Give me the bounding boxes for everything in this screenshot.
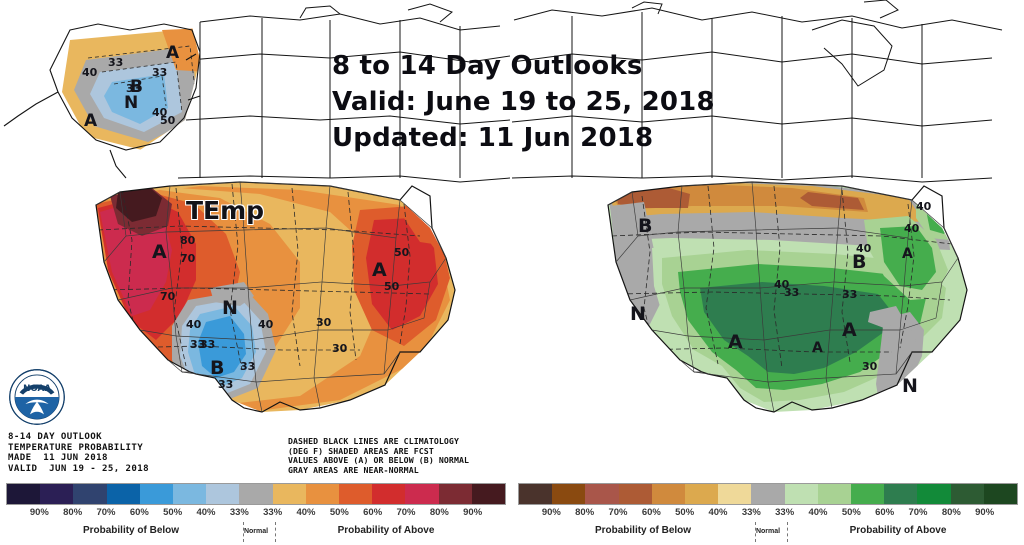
svg-text:70: 70 (180, 252, 196, 265)
colorbar-tick: 80% (63, 507, 82, 518)
svg-text:B: B (852, 251, 866, 273)
colorbar-tick: 90% (975, 507, 994, 518)
svg-text:B: B (210, 357, 224, 379)
legend-below-label: Probability of Below (595, 525, 691, 536)
colorbar-swatch (818, 484, 851, 504)
svg-text:40: 40 (186, 318, 202, 331)
svg-text:50: 50 (394, 246, 410, 259)
colorbar-swatch (173, 484, 206, 504)
svg-text:30: 30 (862, 360, 878, 373)
colorbar-tick: 40% (296, 507, 315, 518)
svg-text:A: A (166, 43, 180, 63)
colorbar-tick: 33% (742, 507, 761, 518)
colorbar-swatch (273, 484, 306, 504)
legend-divider-left (243, 522, 244, 542)
colorbar-tick: 50% (330, 507, 349, 518)
colorbar-tick: 33% (775, 507, 794, 518)
colorbar-tick: 40% (808, 507, 827, 518)
svg-text:70: 70 (160, 290, 176, 303)
legend-divider-left (755, 522, 756, 542)
colorbar-swatch (472, 484, 505, 504)
svg-text:33: 33 (218, 378, 233, 391)
colorbar-swatch (206, 484, 239, 504)
svg-text:30: 30 (316, 316, 332, 329)
colorbar-tick: 70% (96, 507, 115, 518)
conus-temperature-shading (80, 175, 480, 425)
colorbar-swatch (619, 484, 652, 504)
legend-divider-right (275, 522, 276, 542)
colorbar-swatch (751, 484, 784, 504)
headline-line-1: 8 to 14 Day Outlooks (332, 48, 732, 84)
svg-text:50: 50 (384, 280, 400, 293)
colorbar-swatch (785, 484, 818, 504)
svg-text:A: A (84, 111, 98, 131)
svg-text:40: 40 (904, 222, 920, 235)
colorbar-tick: 70% (908, 507, 927, 518)
precipitation-colorbar (518, 483, 1018, 505)
colorbar-swatch (917, 484, 950, 504)
colorbar-tick: 40% (196, 507, 215, 518)
svg-text:N: N (902, 375, 918, 397)
colorbar-tick: 70% (608, 507, 627, 518)
temperature-map-title: TEmp (186, 196, 264, 225)
colorbar-swatch (239, 484, 272, 504)
legend-above-label: Probability of Above (850, 525, 947, 536)
legend-normal-label: Normal (244, 528, 268, 535)
colorbar-tick: 60% (130, 507, 149, 518)
svg-text:33: 33 (842, 288, 857, 301)
colorbar-swatch (951, 484, 984, 504)
precipitation-colorbar-ticks: 90%80%70%60%50%40%33%33%40%50%60%70%80%9… (518, 507, 1018, 523)
conus-precip-shading (592, 175, 992, 425)
colorbar-swatch (140, 484, 173, 504)
svg-text:40: 40 (774, 278, 790, 291)
svg-text:33: 33 (200, 338, 215, 351)
colorbar-swatch (372, 484, 405, 504)
colorbar-tick: 90% (463, 507, 482, 518)
legend-below-label: Probability of Below (83, 525, 179, 536)
svg-text:A: A (372, 259, 387, 281)
colorbar-tick: 80% (430, 507, 449, 518)
svg-text:50: 50 (160, 114, 176, 127)
svg-text:40: 40 (258, 318, 274, 331)
colorbar-swatch (984, 484, 1017, 504)
colorbar-swatch (7, 484, 40, 504)
svg-text:A: A (842, 319, 857, 341)
colorbar-tick: 50% (163, 507, 182, 518)
colorbar-swatch (73, 484, 106, 504)
legend-above-label: Probability of Above (338, 525, 435, 536)
colorbar-swatch (339, 484, 372, 504)
headline-line-3: Updated: 11 Jun 2018 (332, 120, 732, 156)
svg-text:A: A (902, 246, 913, 262)
colorbar-swatch (306, 484, 339, 504)
colorbar-tick: 60% (642, 507, 661, 518)
svg-text:N: N (222, 297, 238, 319)
colorbar-swatch (439, 484, 472, 504)
legend-normal-label: Normal (756, 528, 780, 535)
colorbar-swatch (585, 484, 618, 504)
precipitation-legend-names: Probability of Below Normal Probability … (518, 525, 1018, 545)
colorbar-swatch (552, 484, 585, 504)
colorbar-tick: 60% (363, 507, 382, 518)
svg-text:40: 40 (82, 66, 98, 79)
temperature-legend-names: Probability of Below Normal Probability … (6, 525, 506, 545)
svg-text:N: N (630, 303, 646, 325)
svg-text:B: B (130, 77, 143, 97)
colorbar-tick: 70% (396, 507, 415, 518)
colorbar-swatch (40, 484, 73, 504)
colorbar-tick: 50% (842, 507, 861, 518)
svg-text:33: 33 (108, 56, 123, 69)
colorbar-swatch (652, 484, 685, 504)
colorbar-tick: 60% (875, 507, 894, 518)
temperature-colorbar-ticks: 90%80%70%60%50%40%33%33%40%50%60%70%80%9… (6, 507, 506, 523)
svg-text:NOAA: NOAA (23, 384, 51, 394)
colorbar-tick: 40% (708, 507, 727, 518)
colorbar-swatch (685, 484, 718, 504)
colorbar-tick: 33% (263, 507, 282, 518)
svg-text:33: 33 (240, 360, 255, 373)
colorbar-swatch (851, 484, 884, 504)
precipitation-legend: 90%80%70%60%50%40%33%33%40%50%60%70%80%9… (512, 480, 1024, 545)
colorbar-tick: 80% (942, 507, 961, 518)
svg-text:A: A (812, 340, 823, 356)
svg-text:80: 80 (180, 234, 196, 247)
colorbar-tick: 80% (575, 507, 594, 518)
svg-text:A: A (728, 331, 743, 353)
colorbar-swatch (405, 484, 438, 504)
svg-text:B: B (638, 215, 652, 237)
colorbar-swatch (519, 484, 552, 504)
temperature-colorbar (6, 483, 506, 505)
noaa-logo-temperature: NOAA (8, 368, 66, 426)
temperature-legend: 90%80%70%60%50%40%33%33%40%50%60%70%80%9… (0, 480, 512, 545)
headline-block: 8 to 14 Day Outlooks Valid: June 19 to 2… (332, 48, 732, 156)
svg-text:33: 33 (152, 66, 167, 79)
colorbar-tick: 50% (675, 507, 694, 518)
colorbar-swatch (107, 484, 140, 504)
outlook-figure: 4033 3333 4050 AN BA (0, 0, 1024, 545)
legend-divider-right (787, 522, 788, 542)
colorbar-tick: 90% (542, 507, 561, 518)
colorbar-swatch (718, 484, 751, 504)
colorbar-tick: 33% (230, 507, 249, 518)
svg-text:A: A (152, 241, 167, 263)
colorbar-tick: 90% (30, 507, 49, 518)
temperature-caption-right: DASHED BLACK LINES ARE CLIMATOLOGY (DEG … (288, 437, 469, 475)
temperature-caption-left: 8-14 DAY OUTLOOK TEMPERATURE PROBABILITY… (8, 432, 149, 474)
svg-text:40: 40 (916, 200, 932, 213)
colorbar-swatch (884, 484, 917, 504)
svg-text:30: 30 (332, 342, 348, 355)
headline-line-2: Valid: June 19 to 25, 2018 (332, 84, 732, 120)
